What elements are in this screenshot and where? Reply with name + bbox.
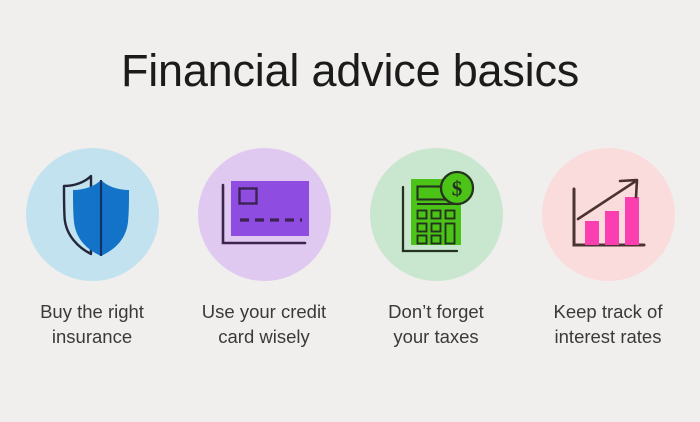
shield-icon — [55, 174, 129, 256]
advice-card-taxes[interactable]: $ Don’t forget your taxes — [356, 148, 516, 349]
icon-circle-taxes: $ — [370, 148, 503, 281]
icon-circle-interest-rates — [542, 148, 675, 281]
advice-card-insurance[interactable]: Buy the right insurance — [12, 148, 172, 349]
icon-circle-insurance — [26, 148, 159, 281]
advice-caption-credit-card: Use your credit card wisely — [184, 300, 344, 349]
advice-card-row: Buy the right insurance Use your credit … — [0, 148, 700, 349]
advice-card-credit-card[interactable]: Use your credit card wisely — [184, 148, 344, 349]
page-title: Financial advice basics — [0, 48, 700, 93]
icon-circle-credit-card — [198, 148, 331, 281]
advice-caption-taxes: Don’t forget your taxes — [356, 300, 516, 349]
calculator-dollar-icon: $ — [395, 171, 477, 259]
svg-text:$: $ — [452, 176, 463, 200]
bar-chart-arrow-up-icon — [568, 175, 648, 255]
advice-caption-insurance: Buy the right insurance — [12, 300, 172, 349]
credit-card-icon — [219, 181, 309, 249]
advice-card-interest-rates[interactable]: Keep track of interest rates — [528, 148, 688, 349]
advice-caption-interest-rates: Keep track of interest rates — [528, 300, 688, 349]
